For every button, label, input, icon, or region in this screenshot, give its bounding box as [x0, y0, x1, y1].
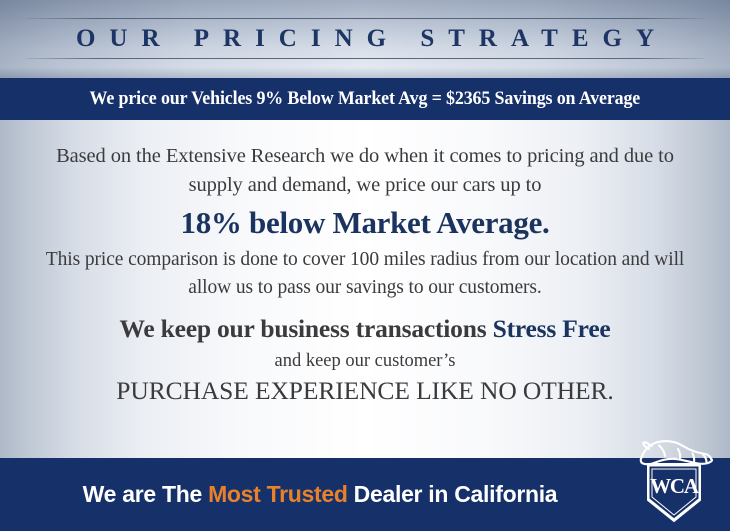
body-content: Based on the Extensive Research we do wh… [40, 120, 690, 458]
stress-free-accent: Stress Free [493, 314, 611, 343]
footer-tagline-prefix: We are The [83, 481, 208, 508]
stress-free-prefix: We keep our business transactions [119, 314, 492, 343]
savings-banner-text: We price our Vehicles 9% Below Market Av… [90, 89, 641, 110]
body-area: Based on the Extensive Research we do wh… [0, 120, 730, 458]
intro-paragraph: Based on the Extensive Research we do wh… [40, 142, 690, 200]
header-rule-bottom [26, 58, 704, 59]
and-keep-line: and keep our customer’s [40, 348, 690, 374]
footer-tagline-accent: Most Trusted [208, 481, 348, 508]
footer-band: We are The Most Trusted Dealer in Califo… [0, 458, 730, 531]
panther-icon [641, 441, 712, 464]
pricing-strategy-poster: OUR PRICING STRATEGY We price our Vehicl… [0, 0, 730, 531]
headline-discount: 18% below Market Average. [40, 203, 690, 243]
wca-logo: WCA [628, 432, 720, 526]
purchase-experience-line: PURCHASE EXPERIENCE LIKE NO OTHER. [40, 374, 690, 408]
header-rule-top [26, 18, 704, 19]
logo-letters: WCA [650, 474, 700, 498]
detail-paragraph: This price comparison is done to cover 1… [40, 246, 690, 302]
savings-banner: We price our Vehicles 9% Below Market Av… [0, 78, 730, 120]
page-title: OUR PRICING STRATEGY [0, 22, 730, 56]
header-band: OUR PRICING STRATEGY [0, 0, 730, 78]
footer-tagline: We are The Most Trusted Dealer in Califo… [0, 458, 640, 531]
stress-free-line: We keep our business transactions Stress… [40, 312, 690, 346]
footer-tagline-suffix: Dealer in California [348, 481, 558, 508]
